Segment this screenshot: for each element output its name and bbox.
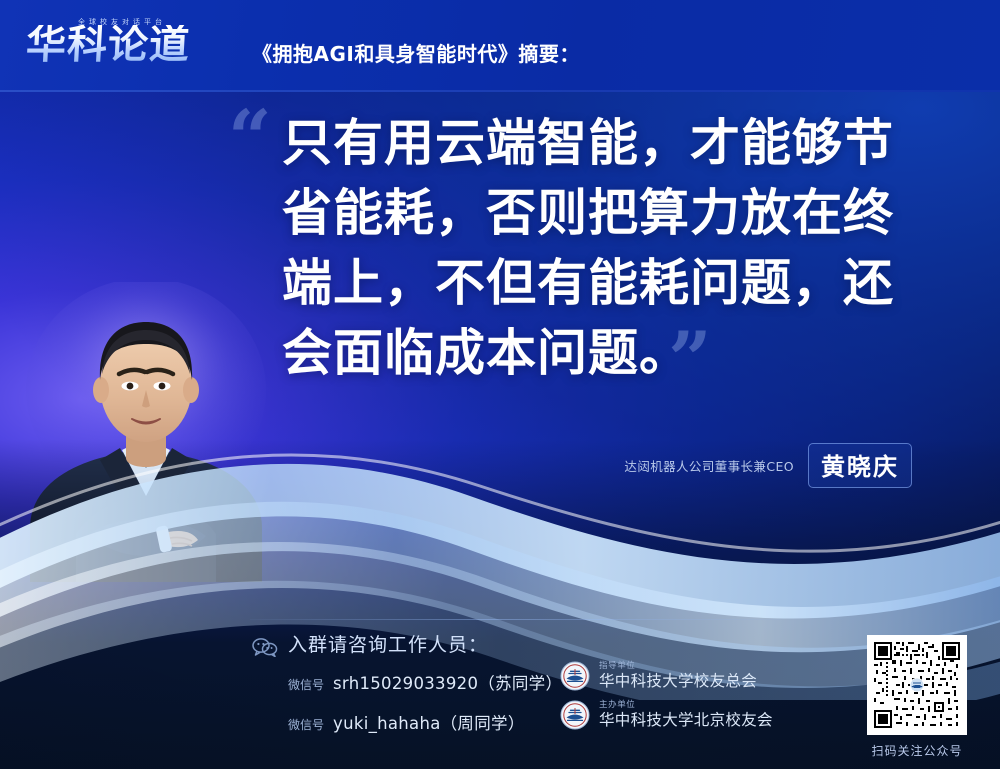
qr-code-icon[interactable]	[867, 635, 967, 735]
header-bar: 全球校友对话平台 华科论道 《拥抱AGI和具身智能时代》摘要：	[0, 0, 1000, 92]
page-title: 《拥抱AGI和具身智能时代》摘要：	[252, 26, 580, 67]
organization-name: 华中科技大学北京校友会	[599, 712, 773, 728]
organization-row: 指导单位 华中科技大学校友总会	[560, 661, 773, 691]
contact-value[interactable]: srh15029033920（苏同学）	[333, 670, 562, 694]
qr-caption: 扫码关注公众号	[862, 742, 972, 759]
quote-line: 省能耗，否则把算力放在终	[282, 178, 942, 248]
logo-wordmark: 华科论道	[25, 25, 191, 65]
contact-label: 微信号	[288, 676, 324, 693]
poster-root: 全球校友对话平台 华科论道 《拥抱AGI和具身智能时代》摘要： “ 只有用云端智…	[0, 0, 1000, 769]
speaker-portrait	[18, 282, 286, 582]
quote-open-mark: “	[228, 100, 272, 176]
speaker-role: 达闼机器人公司董事长兼CEO	[624, 456, 794, 475]
attribution: 达闼机器人公司董事长兼CEO 黄晓庆	[624, 443, 912, 488]
organizations: 指导单位 华中科技大学校友总会	[560, 661, 773, 739]
organization-kind: 主办单位	[599, 701, 773, 710]
wechat-icon	[252, 637, 278, 657]
contact-row: 微信号 srh15029033920（苏同学）	[288, 670, 562, 694]
speaker-name: 黄晓庆	[808, 443, 912, 488]
qr-block: 扫码关注公众号	[862, 635, 972, 759]
hust-emblem-icon	[560, 661, 590, 691]
quote-text: 只有用云端智能，才能够节 省能耗，否则把算力放在终 端上，不但有能耗问题，还 会…	[282, 108, 942, 388]
footer: 入群请咨询工作人员： 微信号 srh15029033920（苏同学） 微信号 y…	[0, 629, 1000, 769]
quote-line: 会面临成本问题。	[282, 318, 942, 388]
organization-kind: 指导单位	[599, 662, 757, 671]
organization-row: 主办单位 华中科技大学北京校友会	[560, 700, 773, 730]
quote-close-mark: ”	[668, 322, 712, 398]
organization-name: 华中科技大学校友总会	[599, 673, 757, 689]
contact-row: 微信号 yuki_hahaha（周同学）	[288, 710, 525, 734]
contact-value[interactable]: yuki_hahaha（周同学）	[333, 710, 525, 734]
footer-divider	[250, 619, 780, 620]
quote-line: 端上，不但有能耗问题，还	[282, 248, 942, 318]
quote-line: 只有用云端智能，才能够节	[282, 108, 942, 178]
hust-emblem-icon	[560, 700, 590, 730]
brand-logo[interactable]: 全球校友对话平台 华科论道	[26, 15, 222, 77]
invite-title: 入群请咨询工作人员：	[288, 630, 488, 657]
contact-label: 微信号	[288, 716, 324, 733]
